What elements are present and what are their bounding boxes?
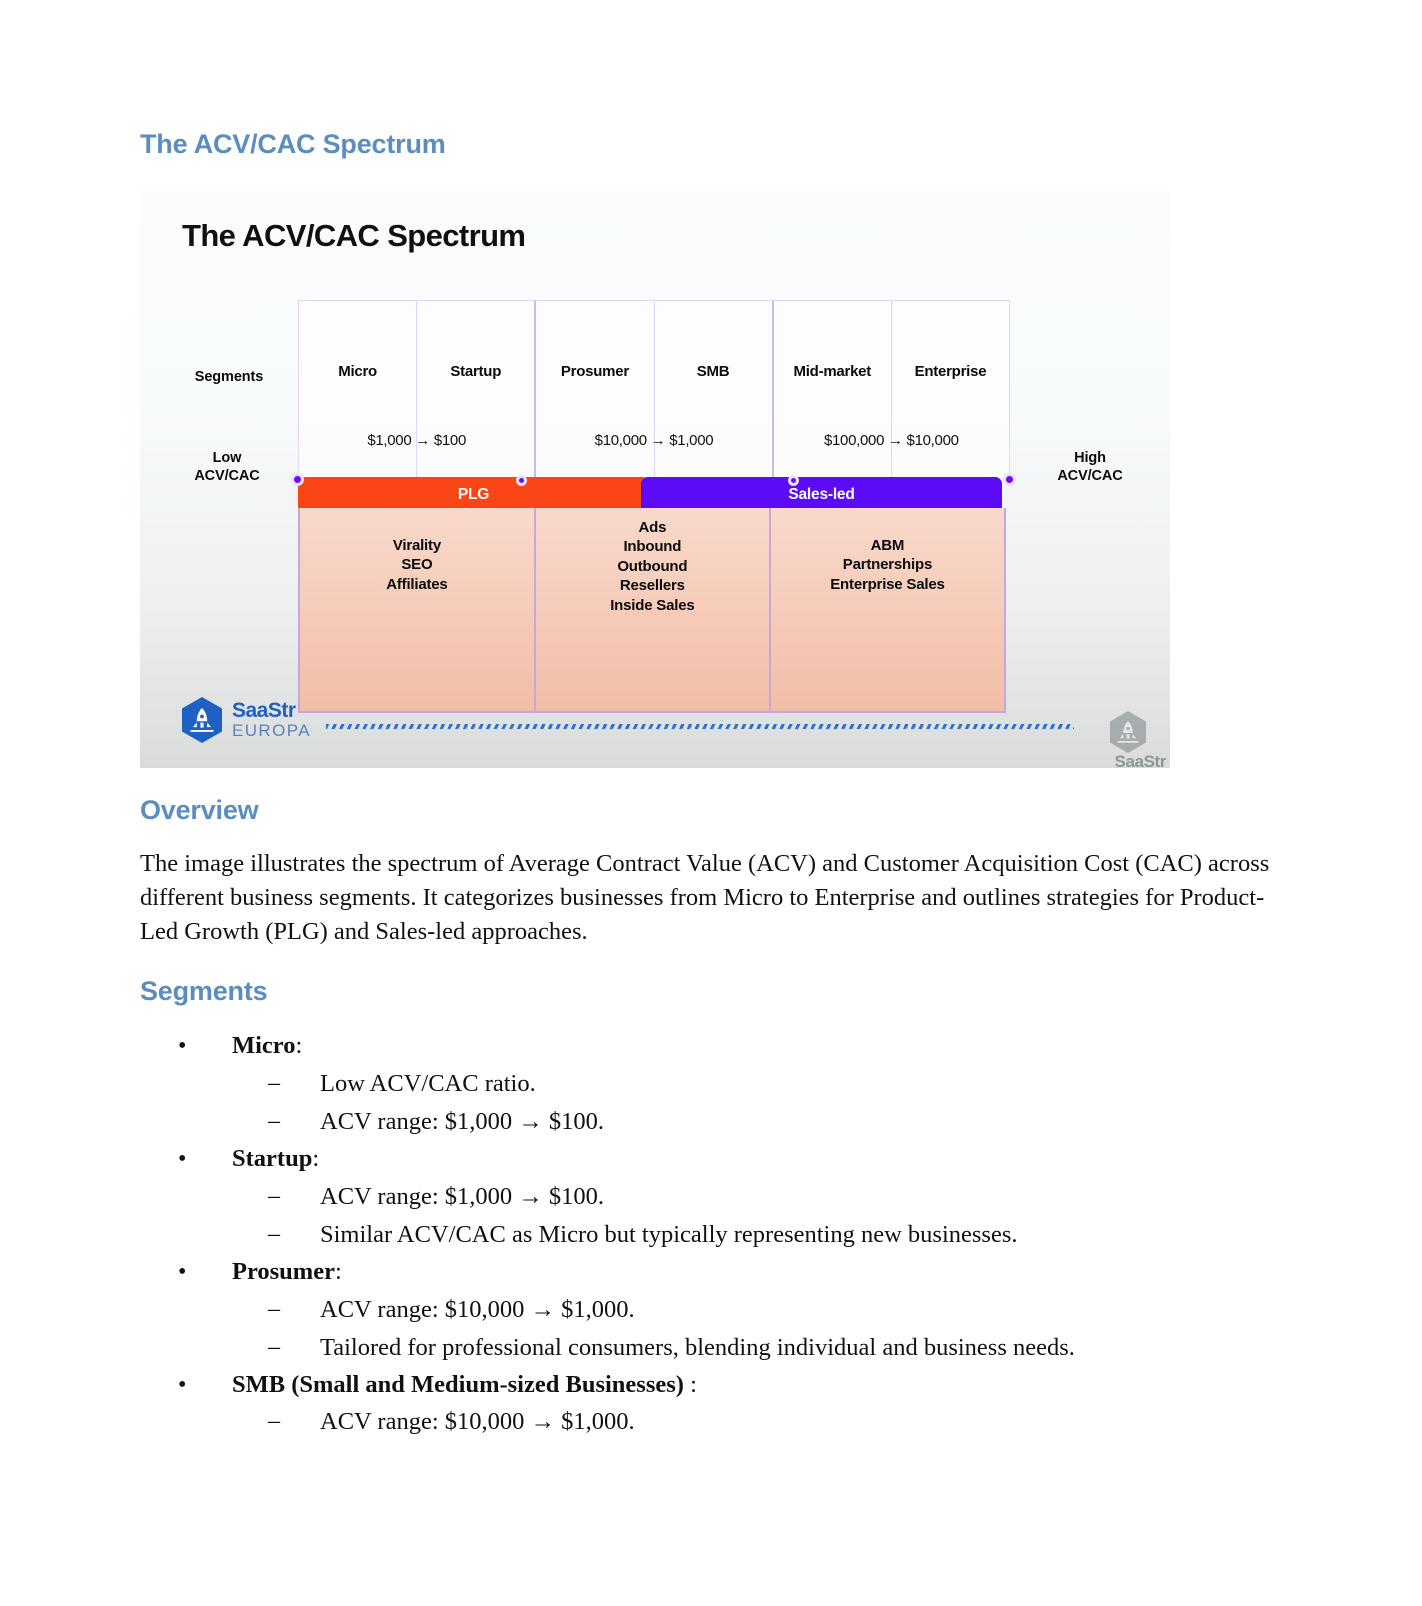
sub-item-text: ACV range: $10,000 → $1,000. — [320, 1296, 635, 1323]
overview-heading: Overview — [140, 796, 1282, 826]
tactic-list: Ads Inbound Outbound Resellers Inside Sa… — [610, 518, 694, 616]
saastr-name: SaaStr — [232, 700, 311, 721]
tactic-list: Virality SEO Affiliates — [386, 536, 447, 595]
bullet-glyph: • — [178, 1254, 186, 1290]
spectrum-tick-dot-startup-prosumer — [516, 475, 527, 486]
list-item: – Low ACV/CAC ratio. — [232, 1065, 1282, 1103]
axis-label-segments: Segments — [166, 368, 292, 386]
list-item: – ACV range: $10,000 → $1,000. — [232, 1403, 1282, 1441]
high-label-line-2: ACV/CAC — [1025, 467, 1155, 485]
saastr-subtitle: EUROPA — [232, 722, 311, 739]
list-item: – Tailored for professional consumers, b… — [232, 1329, 1282, 1367]
sub-item-text: ACV range: $1,000 → $100. — [320, 1108, 604, 1135]
list-item: – ACV range: $1,000 → $100. — [232, 1103, 1282, 1141]
bullet-glyph: • — [178, 1367, 186, 1403]
saastr-wordmark: SaaStr EUROPA — [232, 700, 311, 739]
dash-glyph: – — [268, 1216, 280, 1253]
segment-column-prosumer: Prosumer — [534, 300, 653, 485]
segment-term: Prosumer — [232, 1258, 335, 1285]
segment-label: Enterprise — [892, 363, 1009, 380]
sub-item-text: Tailored for professional consumers, ble… — [320, 1334, 1075, 1361]
segment-column-micro: Micro — [298, 300, 416, 485]
figure-title: The ACV/CAC Spectrum — [182, 218, 525, 254]
sub-item-text: ACV range: $1,000 → $100. — [320, 1183, 604, 1210]
list-item: • Startup: – ACV range: $1,000 → $100. –… — [140, 1141, 1282, 1254]
acv-cac-spectrum-figure: The ACV/CAC Spectrum Segments Low ACV/CA… — [140, 190, 1170, 768]
list-item: – ACV range: $10,000 → $1,000. — [232, 1291, 1282, 1329]
axis-label-low-acv-cac: Low ACV/CAC — [162, 449, 292, 485]
sub-item-text: ACV range: $10,000 → $1,000. — [320, 1408, 635, 1435]
list-item: • Micro: – Low ACV/CAC ratio. – ACV rang… — [140, 1028, 1282, 1141]
segment-term-suffix: : — [335, 1258, 342, 1285]
saastr-corner-text: SaaStr — [1115, 752, 1166, 768]
high-label-line-1: High — [1025, 449, 1155, 467]
list-item: • SMB (Small and Medium-sized Businesses… — [140, 1367, 1282, 1442]
dash-glyph: – — [268, 1291, 280, 1328]
segment-term-suffix: : — [296, 1032, 303, 1059]
segment-column-enterprise: Enterprise — [891, 300, 1010, 485]
segments-heading: Segments — [140, 977, 1282, 1007]
bullet-glyph: • — [178, 1028, 186, 1064]
segment-term: Micro — [232, 1032, 296, 1059]
decorative-dashed-line — [326, 724, 1074, 729]
spectrum-tick-dot-prosumer-smb — [788, 475, 799, 486]
sub-item-text: Low ACV/CAC ratio. — [320, 1070, 536, 1097]
segment-term-suffix: : — [312, 1145, 319, 1172]
segment-term: Startup — [232, 1145, 312, 1172]
page-title: The ACV/CAC Spectrum — [140, 130, 1282, 160]
dash-glyph: – — [268, 1103, 280, 1140]
overview-paragraph: The image illustrates the spectrum of Av… — [140, 847, 1282, 948]
segment-label: Prosumer — [536, 363, 653, 380]
bullet-glyph: • — [178, 1141, 186, 1177]
tactic-panels: Virality SEO Affiliates Ads Inbound Outb… — [298, 508, 1010, 713]
segment-column-smb: SMB — [654, 300, 772, 485]
figure-footer: SaaStr EUROPA SaaStr — [180, 696, 1140, 758]
segment-label: Micro — [299, 363, 416, 380]
segment-columns: Micro Startup Prosumer SMB Mid-market En… — [298, 300, 1010, 485]
low-label-line-1: Low — [162, 449, 292, 467]
document-body: The ACV/CAC Spectrum The ACV/CAC Spectru… — [0, 0, 1422, 1606]
sub-item-text: Similar ACV/CAC as Micro but typically r… — [320, 1221, 1017, 1248]
sub-list: – ACV range: $10,000 → $1,000. — [232, 1403, 1282, 1441]
tactic-panel-sales-led: ABM Partnerships Enterprise Sales — [769, 508, 1006, 713]
dash-glyph: – — [268, 1403, 280, 1440]
sub-list: – Low ACV/CAC ratio. – ACV range: $1,000… — [232, 1065, 1282, 1141]
list-item: • Prosumer: – ACV range: $10,000 → $1,00… — [140, 1254, 1282, 1367]
sub-list: – ACV range: $10,000 → $1,000. – Tailore… — [232, 1291, 1282, 1367]
rocket-hexagon-icon — [180, 696, 224, 744]
tactic-list: ABM Partnerships Enterprise Sales — [830, 536, 944, 595]
segment-label: Mid-market — [774, 363, 891, 380]
dash-glyph: – — [268, 1178, 280, 1215]
list-item: – ACV range: $1,000 → $100. — [232, 1178, 1282, 1216]
axis-label-high-acv-cac: High ACV/CAC — [1025, 449, 1155, 485]
segment-column-mid-market: Mid-market — [772, 300, 891, 485]
saastr-logo: SaaStr EUROPA — [180, 696, 311, 744]
tactic-panel-mid: Ads Inbound Outbound Resellers Inside Sa… — [534, 508, 771, 713]
sub-list: – ACV range: $1,000 → $100. – Similar AC… — [232, 1178, 1282, 1254]
spectrum-endpoint-right-dot — [1003, 473, 1016, 486]
low-label-line-2: ACV/CAC — [162, 467, 292, 485]
dash-glyph: – — [268, 1065, 280, 1102]
segment-term: SMB (Small and Medium-sized Businesses) — [232, 1371, 684, 1398]
saastr-corner-hexagon-icon — [1108, 710, 1148, 754]
list-item: – Similar ACV/CAC as Micro but typically… — [232, 1216, 1282, 1254]
dash-glyph: – — [268, 1329, 280, 1366]
segment-term-suffix: : — [684, 1371, 697, 1398]
segment-label: Startup — [417, 363, 534, 380]
spectrum-endpoint-left-dot — [291, 473, 304, 486]
segments-list: • Micro: – Low ACV/CAC ratio. – ACV rang… — [140, 1028, 1282, 1441]
segment-label: SMB — [655, 363, 772, 380]
segment-column-startup: Startup — [416, 300, 534, 485]
tactic-panel-plg-low: Virality SEO Affiliates — [298, 508, 536, 713]
